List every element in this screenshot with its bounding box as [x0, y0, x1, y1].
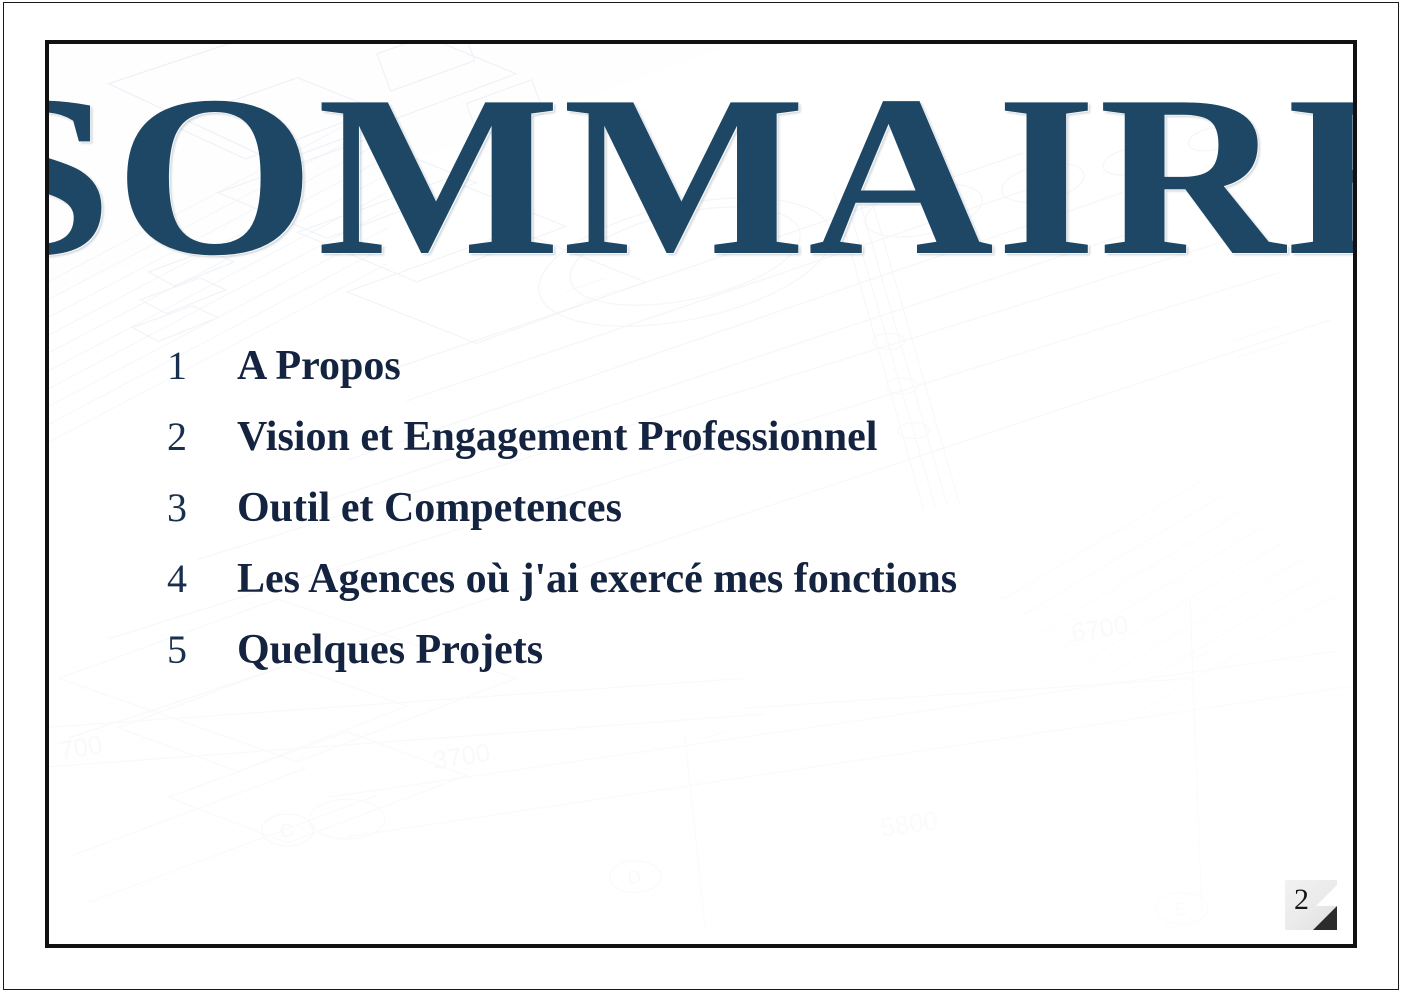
toc-item-label: Les Agences où j'ai exercé mes fonctions [237, 555, 957, 603]
toc-item-3[interactable]: 3 Outil et Competences [167, 484, 1287, 555]
toc-item-number: 2 [167, 413, 237, 460]
toc-item-1[interactable]: 1 A Propos [167, 342, 1287, 413]
page-number-badge: 2 [1285, 880, 1337, 930]
toc-item-4[interactable]: 4 Les Agences où j'ai exercé mes fonctio… [167, 555, 1287, 626]
toc-item-number: 5 [167, 626, 237, 673]
toc-item-number: 3 [167, 484, 237, 531]
svg-text:700: 700 [57, 731, 104, 765]
slide-root: C D E 700 3700 6700 5800 [0, 0, 1404, 994]
page-title: SOMMAIRE [45, 70, 1357, 282]
toc-item-label: Outil et Competences [237, 484, 622, 532]
table-of-contents: 1 A Propos 2 Vision et Engagement Profes… [167, 342, 1287, 697]
svg-text:D: D [626, 866, 642, 889]
page-curl-highlight [1316, 885, 1337, 906]
toc-item-number: 1 [167, 342, 237, 389]
page-curl-icon [1313, 906, 1337, 930]
svg-text:E: E [1173, 898, 1188, 921]
toc-item-number: 4 [167, 555, 237, 602]
svg-text:C: C [278, 819, 294, 842]
page-number: 2 [1294, 882, 1309, 918]
toc-item-label: A Propos [237, 342, 401, 390]
svg-text:5800: 5800 [879, 807, 940, 843]
toc-item-5[interactable]: 5 Quelques Projets [167, 626, 1287, 697]
page-title-wrap: SOMMAIRE [49, 70, 1353, 282]
toc-item-label: Quelques Projets [237, 626, 543, 674]
toc-item-2[interactable]: 2 Vision et Engagement Professionnel [167, 413, 1287, 484]
toc-item-label: Vision et Engagement Professionnel [237, 413, 877, 461]
svg-text:3700: 3700 [431, 739, 492, 776]
slide-frame: C D E 700 3700 6700 5800 [45, 40, 1357, 948]
